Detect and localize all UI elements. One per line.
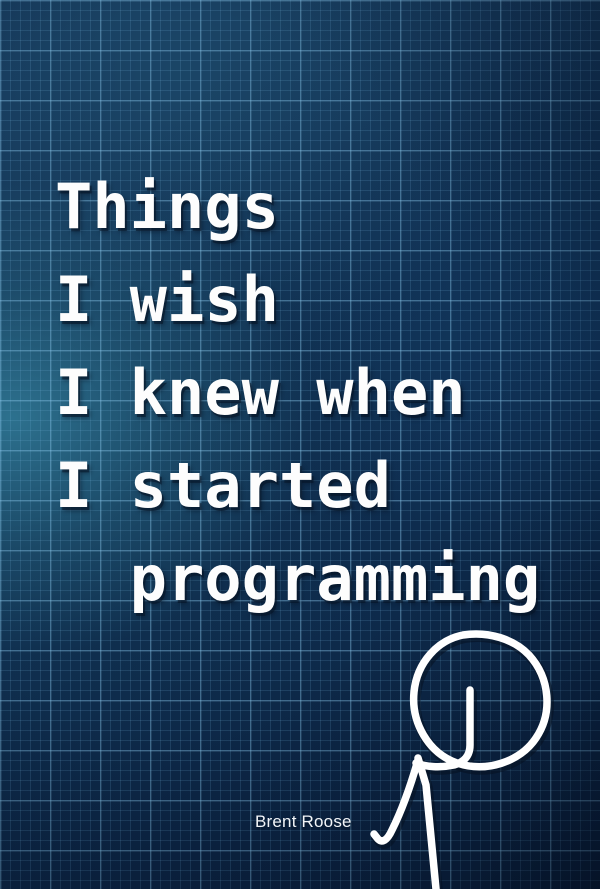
title-line-5: programming: [55, 532, 575, 625]
title-line-3: I knew when: [55, 346, 575, 439]
figure-body: [418, 758, 436, 889]
title-line-2: I wish: [55, 253, 575, 346]
figure-head: [414, 634, 547, 767]
stick-figure-shadow: [376, 637, 549, 889]
stick-figure-illustration: [370, 610, 600, 889]
title-line-1: Things: [55, 160, 575, 253]
book-cover: Things I wish I knew when I started prog…: [0, 0, 600, 889]
figure-arm: [374, 760, 418, 841]
author-name: Brent Roose: [255, 812, 352, 832]
cover-title: Things I wish I knew when I started prog…: [55, 160, 575, 625]
title-line-4: I started: [55, 439, 575, 532]
figure-neck: [416, 690, 470, 767]
